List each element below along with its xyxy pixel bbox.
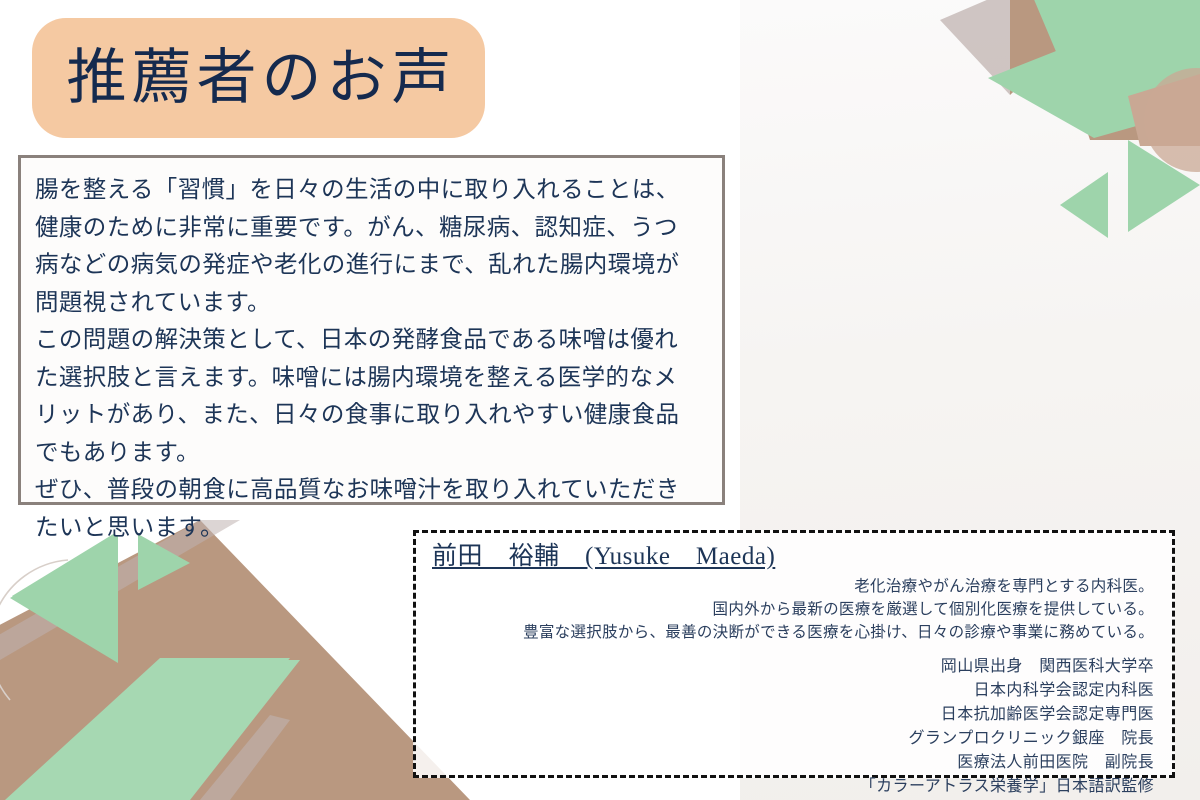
profile-blurb: 老化治療やがん治療を専門とする内科医。 国内外から最新の医療を厳選して個別化医療…	[523, 575, 1154, 644]
mauve-edge-bl	[200, 715, 290, 800]
profile-credentials: 岡山県出身 関西医科大学卒 日本内科学会認定内科医 日本抗加齢医学会認定専門医 …	[860, 655, 1154, 799]
profile-credential-line: グランプロクリニック銀座 院長	[860, 727, 1154, 751]
profile-blurb-line: 国内外から最新の医療を厳選して個別化医療を提供している。	[523, 598, 1154, 621]
circle-outline-bl	[0, 560, 68, 700]
quote-line: 腸を整える「習慣」を日々の生活の中に取り入れることは、	[35, 172, 706, 210]
quote-line: 問題視されています。	[35, 285, 706, 323]
quote-line: この問題の解決策として、日本の発酵食品である味噌は優れ	[35, 322, 706, 360]
green-parallelogram-bl	[10, 660, 300, 800]
quote-line: でもあります。	[35, 435, 706, 473]
quote-line: リットがあり、また、日々の食事に取り入れやすい健康食品	[35, 397, 706, 435]
title-badge: 推薦者のお声	[32, 18, 485, 138]
quote-line: 病などの病気の発症や老化の進行にまで、乱れた腸内環境が	[35, 247, 706, 285]
profile-credential-line: 日本内科学会認定内科医	[860, 679, 1154, 703]
tan-parallelogram-bl	[0, 520, 470, 800]
profile-credential-line: 「カラーアトラス栄養学」日本語訳監修	[860, 775, 1154, 799]
page-title: 推薦者のお声	[61, 48, 457, 108]
profile-name: 前田 裕輔 (Yusuke Maeda)	[432, 541, 775, 573]
profile-credential-line: 医療法人前田医院 副院長	[860, 751, 1154, 775]
profile-card: 前田 裕輔 (Yusuke Maeda) 老化治療やがん治療を専門とする内科医。…	[413, 530, 1175, 778]
profile-credential-line: 日本抗加齢医学会認定専門医	[860, 703, 1154, 727]
quote-line: ぜひ、普段の朝食に高品質なお味噌汁を取り入れていただき	[35, 472, 706, 510]
poster-canvas: 推薦者のお声 腸を整える「習慣」を日々の生活の中に取り入れることは、 健康のため…	[0, 0, 1200, 800]
green-band-bl	[5, 658, 290, 800]
quote-line: 健康のために非常に重要です。がん、糖尿病、認知症、うつ	[35, 210, 706, 248]
profile-blurb-line: 豊富な選択肢から、最善の決断ができる医療を心掛け、日々の診療や事業に務めている。	[523, 621, 1154, 644]
testimonial-text: 腸を整える「習慣」を日々の生活の中に取り入れることは、 健康のために非常に重要で…	[21, 158, 722, 557]
testimonial-quote-box: 腸を整える「習慣」を日々の生活の中に取り入れることは、 健康のために非常に重要で…	[18, 155, 725, 505]
quote-line: た選択肢と言えます。味噌には腸内環境を整える医学的なメ	[35, 360, 706, 398]
profile-blurb-line: 老化治療やがん治療を専門とする内科医。	[523, 575, 1154, 598]
profile-credential-line: 岡山県出身 関西医科大学卒	[860, 655, 1154, 679]
bottom-left-shapes	[0, 520, 470, 800]
